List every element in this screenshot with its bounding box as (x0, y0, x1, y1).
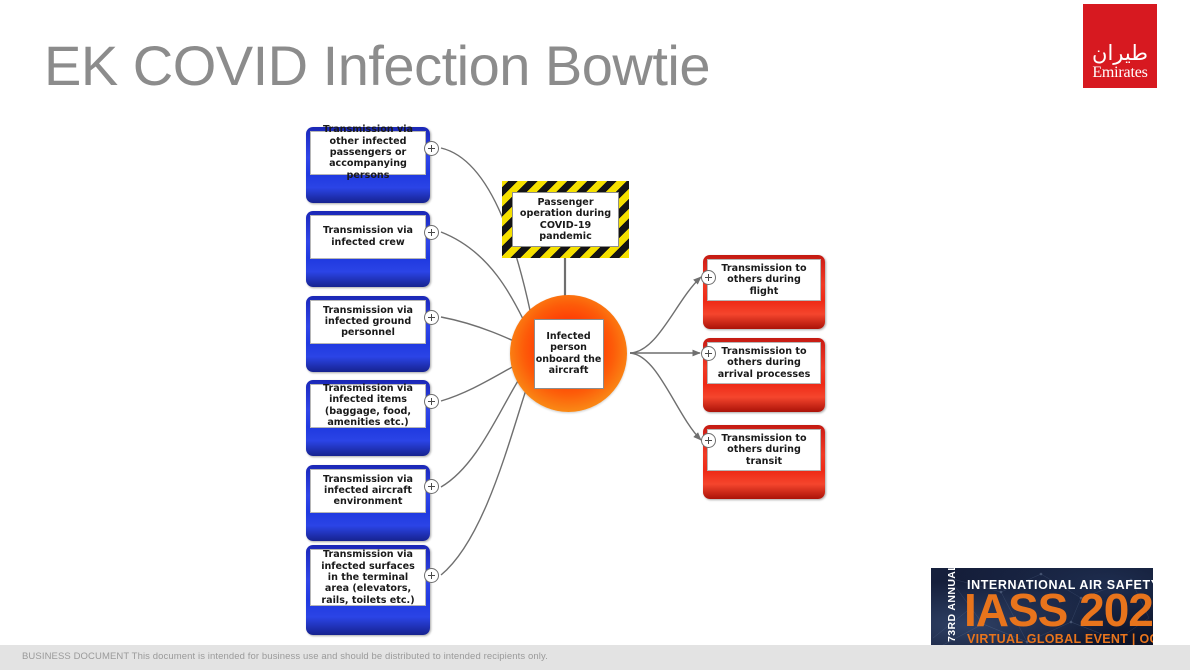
threat-box-2-inner: Transmission via infected crew (310, 215, 426, 259)
threat-box-1-label: Transmission via other infected passenge… (315, 124, 421, 181)
threat-box-1[interactable]: Transmission via other infected passenge… (306, 127, 430, 203)
footer-disclaimer: BUSINESS DOCUMENT This document is inten… (22, 651, 548, 662)
slide-canvas: EK COVID Infection Bowtie طيران Emirates (0, 0, 1190, 670)
top-event-circle[interactable]: Infected person onboard the aircraft (510, 295, 627, 412)
threat-3-plus-badge[interactable] (424, 310, 439, 325)
consequence-box-3[interactable]: Transmission to others during transit (703, 425, 825, 499)
threat-box-6-label: Transmission via infected surfaces in th… (315, 549, 421, 606)
consequence-box-3-inner: Transmission to others during transit (707, 429, 821, 471)
consequence-box-3-label: Transmission to others during transit (712, 433, 816, 467)
iass-logo: 73RD ANNUAL INTERNATIONAL AIR SAFETY SUM… (931, 568, 1153, 650)
threat-box-6[interactable]: Transmission via infected surfaces in th… (306, 545, 430, 635)
threat-1-plus-badge[interactable] (424, 141, 439, 156)
consequence-box-2-inner: Transmission to others during arrival pr… (707, 342, 821, 384)
threat-box-3-label: Transmission via infected ground personn… (315, 305, 421, 339)
threat-box-6-inner: Transmission via infected surfaces in th… (310, 549, 426, 606)
hazard-box[interactable]: Passenger operation during COVID-19 pand… (502, 181, 629, 258)
threat-2-plus-badge[interactable] (424, 225, 439, 240)
top-event-label: Infected person onboard the aircraft (535, 331, 603, 376)
threat-box-3-inner: Transmission via infected ground personn… (310, 300, 426, 344)
consequence-box-2-label: Transmission to others during arrival pr… (712, 346, 816, 380)
top-event-inner-panel: Infected person onboard the aircraft (534, 319, 604, 389)
hazard-inner-panel: Passenger operation during COVID-19 pand… (512, 192, 619, 247)
threat-box-4-inner: Transmission via infected items (baggage… (310, 384, 426, 428)
threat-4-plus-badge[interactable] (424, 394, 439, 409)
consequence-box-1[interactable]: Transmission to others during flight (703, 255, 825, 329)
iass-event-label: VIRTUAL GLOBAL EVENT | OCTOBER 19 - 22 (967, 632, 1153, 646)
threat-6-plus-badge[interactable] (424, 568, 439, 583)
threat-box-2[interactable]: Transmission via infected crew (306, 211, 430, 287)
hazard-label: Passenger operation during COVID-19 pand… (513, 197, 618, 243)
threat-box-4-label: Transmission via infected items (baggage… (315, 383, 421, 429)
threat-box-5-inner: Transmission via infected aircraft envir… (310, 469, 426, 513)
threat-box-5-label: Transmission via infected aircraft envir… (315, 474, 421, 508)
consequence-box-1-label: Transmission to others during flight (712, 263, 816, 297)
consequence-box-2[interactable]: Transmission to others during arrival pr… (703, 338, 825, 412)
threat-box-4[interactable]: Transmission via infected items (baggage… (306, 380, 430, 456)
threat-box-2-label: Transmission via infected crew (315, 225, 421, 248)
threat-box-5[interactable]: Transmission via infected aircraft envir… (306, 465, 430, 541)
iass-main-label: IASS 2020 (964, 587, 1153, 633)
iass-annual-label: 73RD ANNUAL (946, 568, 958, 642)
threat-box-1-inner: Transmission via other infected passenge… (310, 131, 426, 175)
threat-5-plus-badge[interactable] (424, 479, 439, 494)
consequence-2-plus-badge[interactable] (701, 346, 716, 361)
consequence-1-plus-badge[interactable] (701, 270, 716, 285)
consequence-box-1-inner: Transmission to others during flight (707, 259, 821, 301)
threat-box-3[interactable]: Transmission via infected ground personn… (306, 296, 430, 372)
consequence-3-plus-badge[interactable] (701, 433, 716, 448)
